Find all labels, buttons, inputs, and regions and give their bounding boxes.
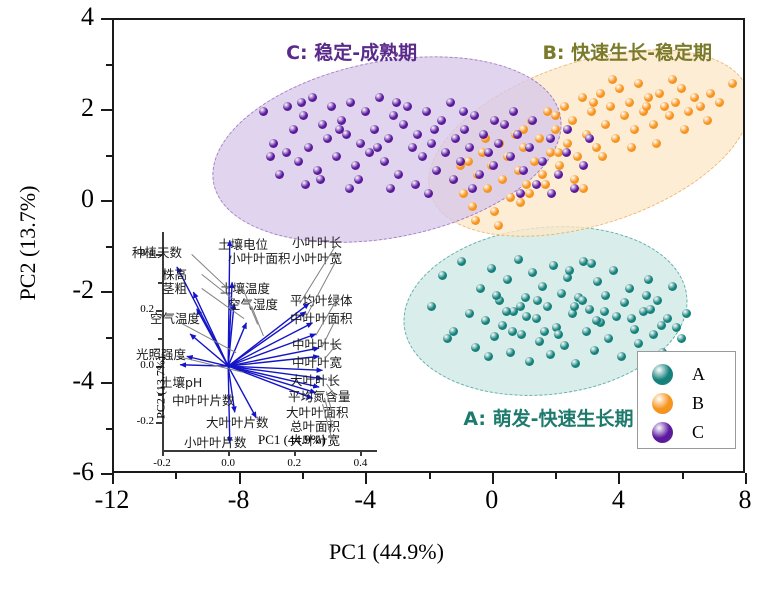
data-point-b: [665, 111, 674, 120]
data-point-b: [706, 89, 715, 98]
data-point-a: [649, 330, 658, 339]
y-tick-label: -2: [34, 277, 94, 303]
data-point-a: [538, 282, 547, 291]
data-point-b: [459, 189, 468, 198]
data-point-a: [657, 321, 666, 330]
data-point-c: [516, 189, 525, 198]
y-tick: [101, 200, 112, 202]
data-point-b: [573, 152, 582, 161]
data-point-a: [487, 264, 496, 273]
x-minor-tick: [429, 473, 431, 479]
data-point-b: [483, 184, 492, 193]
data-point-c: [456, 157, 465, 166]
data-point-c: [479, 130, 488, 139]
data-point-c: [432, 166, 441, 175]
group-annotation-c: C: 稳定-成熟期: [286, 38, 417, 65]
x-tick-label: 8: [705, 487, 773, 513]
legend-marker-a: [652, 364, 673, 385]
x-tick: [112, 473, 114, 484]
y-tick-label: -6: [34, 459, 94, 485]
inset-loading-plot: -0.20.00.20.40.40.20.0-0.2 种植天数株高茎粗土壤电位小…: [140, 232, 390, 464]
data-point-b: [668, 75, 677, 84]
data-point-c: [437, 116, 446, 125]
x-tick-label: -8: [199, 487, 279, 513]
inset-variable-label: 小叶叶面积: [228, 248, 291, 267]
data-point-c: [269, 139, 278, 148]
data-point-c: [446, 98, 455, 107]
data-point-c: [424, 189, 433, 198]
data-point-a: [554, 330, 563, 339]
legend-item-a[interactable]: A: [652, 362, 732, 388]
x-tick-label: 0: [452, 487, 532, 513]
x-tick: [745, 473, 747, 484]
y-tick: [101, 382, 112, 384]
data-point-c: [532, 180, 541, 189]
data-point-c: [413, 130, 422, 139]
y-minor-tick: [106, 155, 112, 157]
data-point-a: [498, 321, 507, 330]
x-tick: [365, 473, 367, 484]
y-tick: [101, 18, 112, 20]
data-point-a: [627, 314, 636, 323]
data-point-a: [540, 327, 549, 336]
data-point-b: [551, 125, 560, 134]
data-point-b: [630, 125, 639, 134]
data-point-b: [541, 180, 550, 189]
data-point-b: [690, 93, 699, 102]
data-point-a: [668, 282, 677, 291]
data-point-a: [533, 296, 542, 305]
y-tick: [101, 109, 112, 111]
group-annotation-a: A: 萌发-快速生长期: [463, 404, 633, 431]
legend-item-c[interactable]: C: [652, 420, 732, 446]
legend-item-b[interactable]: B: [652, 391, 732, 417]
inset-variable-label: 中叶叶长: [292, 334, 342, 353]
inset-variable-label: 小叶叶片数: [184, 432, 247, 451]
legend-label-a: A: [692, 364, 705, 385]
data-point-c: [459, 107, 468, 116]
y-tick-label: -4: [34, 368, 94, 394]
data-point-a: [672, 323, 681, 332]
data-point-c: [323, 134, 332, 143]
x-tick-label: 4: [578, 487, 658, 513]
pca-scatter-figure: -12-8-4048420-2-4-6 PC1 (44.9%) PC2 (13.…: [0, 0, 773, 589]
y-minor-tick: [106, 246, 112, 248]
data-point-c: [546, 134, 555, 143]
data-point-a: [646, 305, 655, 314]
data-point-b: [516, 198, 525, 207]
data-point-c: [427, 139, 436, 148]
data-point-b: [494, 221, 503, 230]
data-point-c: [418, 152, 427, 161]
data-point-b: [644, 93, 653, 102]
data-point-c: [411, 180, 420, 189]
data-point-b: [464, 157, 473, 166]
data-point-a: [522, 312, 531, 321]
y-minor-tick: [106, 337, 112, 339]
y-tick-label: 4: [34, 4, 94, 30]
y-tick-label: 2: [34, 95, 94, 121]
data-point-c: [538, 157, 547, 166]
data-point-b: [684, 107, 693, 116]
data-point-c: [301, 180, 310, 189]
data-point-b: [535, 134, 544, 143]
data-point-b: [625, 98, 634, 107]
x-minor-tick: [682, 473, 684, 479]
data-point-b: [592, 143, 601, 152]
y-axis-title: PC2 (13.7%): [15, 123, 41, 363]
group-annotation-b: B: 快速生长-稳定期: [542, 38, 712, 65]
data-point-c: [519, 166, 528, 175]
data-point-a: [532, 314, 541, 323]
data-point-b: [715, 98, 724, 107]
data-point-b: [551, 111, 560, 120]
data-point-b: [608, 75, 617, 84]
data-point-c: [570, 184, 579, 193]
legend-marker-c: [652, 422, 673, 443]
data-point-c: [513, 130, 522, 139]
data-point-b: [611, 134, 620, 143]
data-point-b: [589, 98, 598, 107]
data-point-c: [337, 116, 346, 125]
y-minor-tick: [106, 64, 112, 66]
y-tick-label: 0: [34, 186, 94, 212]
data-point-c: [345, 184, 354, 193]
x-tick: [239, 473, 241, 484]
y-tick: [101, 291, 112, 293]
data-point-b: [587, 107, 596, 116]
data-point-a: [644, 275, 653, 284]
data-point-a: [546, 350, 555, 359]
data-point-a: [592, 316, 601, 325]
x-tick: [492, 473, 494, 484]
data-point-a: [502, 307, 511, 316]
inset-x-axis-title: PC1 (44.9%): [258, 432, 326, 448]
x-axis-title: PC1 (44.9%): [0, 539, 773, 565]
data-point-a: [590, 346, 599, 355]
data-point-b: [522, 180, 531, 189]
data-point-c: [294, 157, 303, 166]
inset-variable-label: 种植天数: [132, 242, 182, 261]
data-point-a: [521, 293, 530, 302]
data-point-c: [380, 157, 389, 166]
data-point-a: [565, 266, 574, 275]
data-point-b: [568, 116, 577, 125]
x-tick: [618, 473, 620, 484]
data-point-b: [652, 139, 661, 148]
data-point-b: [570, 175, 579, 184]
inset-variable-label: 中叶叶片数: [172, 390, 235, 409]
loading-vector: [197, 309, 228, 366]
data-point-b: [660, 102, 669, 111]
legend-label-b: B: [692, 393, 704, 414]
data-point-a: [630, 325, 639, 334]
data-point-c: [282, 148, 291, 157]
data-point-c: [451, 134, 460, 143]
x-minor-tick: [175, 473, 177, 479]
inset-y-axis-title: PC2 (13.7%): [154, 343, 169, 433]
data-point-b: [627, 143, 636, 152]
data-point-c: [494, 139, 503, 148]
data-point-a: [481, 316, 490, 325]
data-point-c: [304, 143, 313, 152]
y-minor-tick: [106, 428, 112, 430]
data-point-a: [612, 312, 621, 321]
x-tick-label: -4: [325, 487, 405, 513]
data-point-a: [682, 309, 691, 318]
data-point-b: [655, 89, 664, 98]
data-point-b: [671, 98, 680, 107]
data-point-a: [578, 296, 587, 305]
data-point-a: [535, 337, 544, 346]
data-point-a: [514, 255, 523, 264]
y-tick: [101, 473, 112, 475]
data-point-c: [392, 98, 401, 107]
data-point-c: [562, 148, 571, 157]
legend-box[interactable]: A B C: [637, 351, 736, 449]
data-point-b: [703, 116, 712, 125]
data-point-a: [600, 307, 609, 316]
data-point-b: [563, 139, 572, 148]
data-point-c: [266, 152, 275, 161]
legend-label-c: C: [692, 422, 704, 443]
data-point-a: [677, 334, 686, 343]
data-point-a: [557, 289, 566, 298]
data-point-a: [570, 302, 579, 311]
inset-variable-label: 空气温度: [150, 308, 200, 327]
inset-variable-label: 平均叶绿体: [290, 290, 353, 309]
data-point-c: [356, 139, 365, 148]
inset-variable-label: 大叶叶片数: [206, 412, 269, 431]
data-point-c: [361, 107, 370, 116]
legend-marker-b: [652, 393, 673, 414]
x-minor-tick: [555, 473, 557, 479]
data-point-b: [525, 189, 534, 198]
data-point-b: [578, 93, 587, 102]
data-point-a: [438, 271, 447, 280]
data-point-c: [375, 93, 384, 102]
inset-variable-label: 茎粗: [162, 278, 187, 297]
x-minor-tick: [302, 473, 304, 479]
data-point-c: [484, 148, 493, 157]
inset-variable-label: 中叶叶宽: [292, 352, 342, 371]
x-tick-label: -12: [72, 487, 152, 513]
